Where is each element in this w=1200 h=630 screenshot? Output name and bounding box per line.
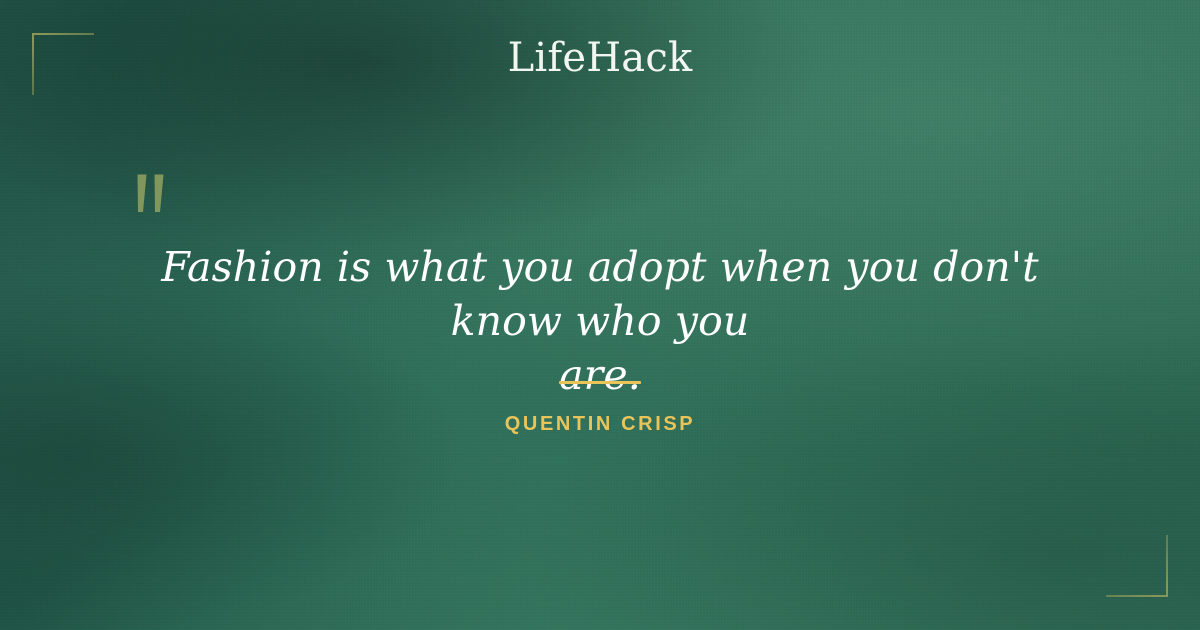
divider-wrap <box>0 381 1200 384</box>
quote-line-2: are. <box>100 348 1100 402</box>
quote-line-1: Fashion is what you adopt when you don't… <box>100 240 1100 348</box>
quote-card: LifeHack Fashion is what you adopt when … <box>0 0 1200 630</box>
corner-bracket-bottom-right-icon <box>1106 535 1168 597</box>
quote-block: Fashion is what you adopt when you don't… <box>100 240 1100 402</box>
brand-logo: LifeHack <box>0 38 1200 78</box>
author-divider <box>559 381 641 384</box>
author-attribution: QUENTIN CRISP <box>0 412 1200 436</box>
quotation-mark-icon <box>130 172 176 222</box>
